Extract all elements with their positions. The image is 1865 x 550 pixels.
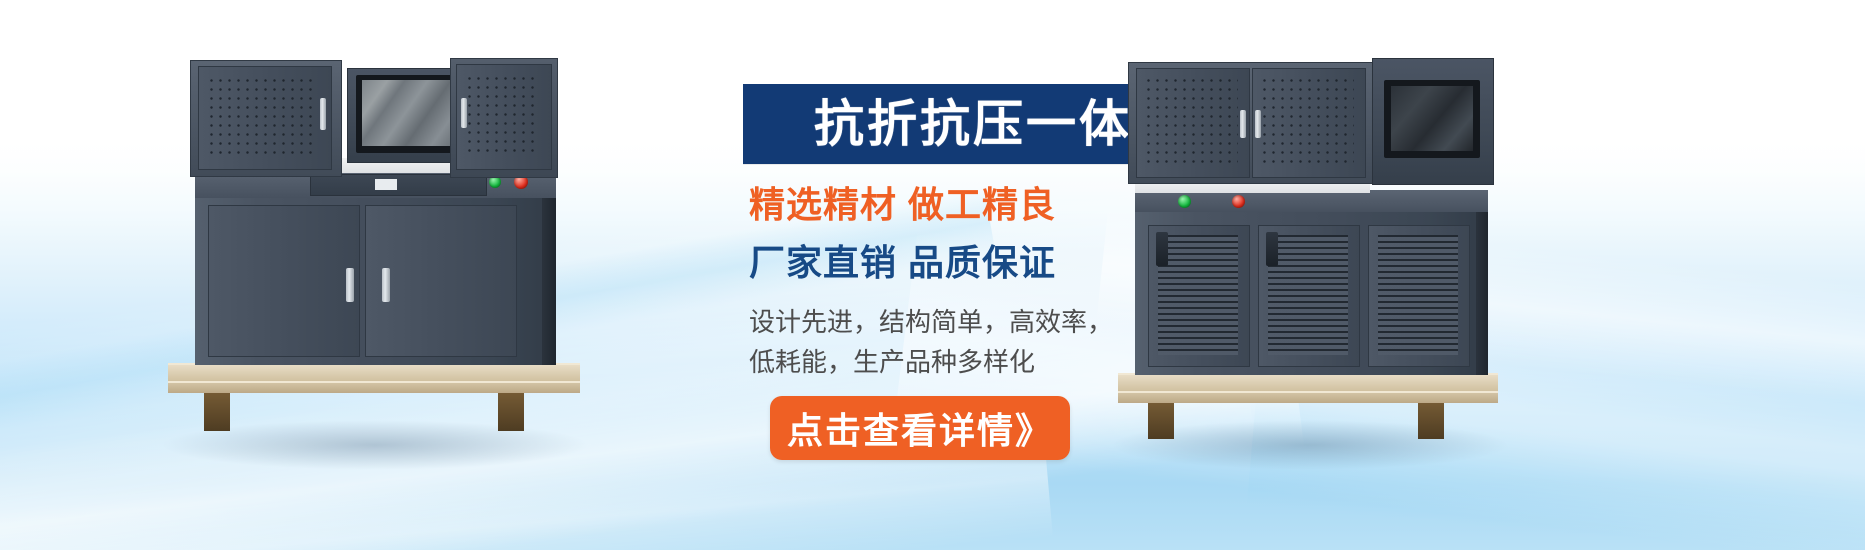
- machine-image-right: [1100, 40, 1520, 470]
- right-machine-upper-door-right-handle: [1255, 110, 1261, 138]
- machine-image-left: [150, 40, 600, 470]
- right-machine-right-side-panel: [1476, 205, 1488, 375]
- right-machine-red-indicator-light[interactable]: [1232, 195, 1245, 208]
- right-machine-upper-door-left-handle: [1240, 110, 1246, 138]
- right-machine-upper-left-perforated-panel-icon: [1144, 76, 1238, 168]
- view-details-button-label: 点击查看详情》: [787, 402, 1053, 454]
- left-machine-pallet: [168, 363, 580, 403]
- left-machine-upper-right-perforated-panel-icon: [465, 74, 539, 158]
- right-machine-left-louver-vent-icon: [1158, 235, 1238, 355]
- left-machine-lower-door-left: [208, 205, 360, 357]
- right-machine-pallet: [1118, 373, 1498, 413]
- left-machine-right-side-panel: [542, 190, 556, 365]
- left-machine-drawer-label: [375, 179, 397, 190]
- view-details-button[interactable]: 点击查看详情》: [770, 396, 1070, 460]
- promotional-banner: 抗折抗压一体机 精选精材 做工精良 厂家直销 品质保证 设计先进，结构简单，高效…: [0, 0, 1865, 550]
- left-machine-upper-right-door-handle: [461, 98, 467, 128]
- right-machine-louver-door-left-handle: [1156, 232, 1168, 266]
- right-machine-mid-louver-vent-icon: [1268, 235, 1348, 355]
- pallet-lower-board: [168, 381, 580, 393]
- pallet-lower-board: [1118, 391, 1498, 403]
- left-machine-lower-door-left-handle: [346, 268, 354, 302]
- left-machine-upper-left-door-handle: [320, 98, 326, 130]
- right-machine-louver-door-mid-handle: [1266, 232, 1278, 266]
- right-machine-right-louver-vent-icon: [1378, 235, 1458, 355]
- right-machine-monitor-screen: [1391, 86, 1473, 151]
- right-machine-green-indicator-light[interactable]: [1178, 195, 1191, 208]
- right-machine-upper-right-perforated-panel-icon: [1260, 76, 1354, 168]
- left-machine-monitor-screen: [362, 80, 460, 146]
- left-machine-upper-left-perforated-panel-icon: [207, 76, 315, 158]
- left-machine-lower-door-right-handle: [382, 268, 390, 302]
